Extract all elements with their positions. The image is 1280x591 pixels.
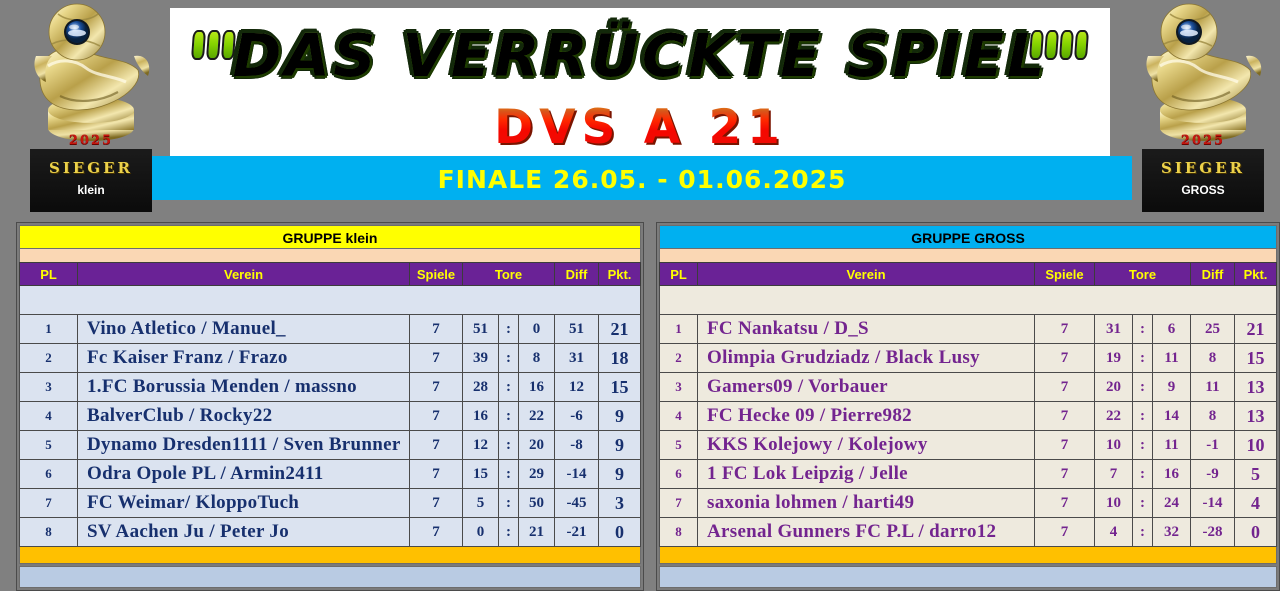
table-row[interactable]: 2 Fc Kaiser Franz / Frazo 7 39 : 8 31 18 (20, 344, 641, 373)
col-header-verein: Verein (78, 263, 410, 286)
cell-spiele: 7 (1035, 344, 1095, 373)
cell-tore-against: 9 (1153, 373, 1191, 402)
trophy-group-label-gross: GROSS (1142, 183, 1264, 197)
cell-tore-against: 32 (1153, 518, 1191, 547)
cell-tore-against: 11 (1153, 431, 1191, 460)
peach-divider (659, 249, 1277, 262)
cell-diff: -28 (1191, 518, 1235, 547)
cell-spiele: 7 (410, 373, 463, 402)
standings-table-klein: GRUPPE klein PL Verein Spiele Tore Diff … (16, 222, 644, 591)
cell-pl: 2 (20, 344, 78, 373)
cell-verein: Gamers09 / Vorbauer (698, 373, 1035, 402)
cell-tore-against: 11 (1153, 344, 1191, 373)
cell-spiele: 7 (1035, 315, 1095, 344)
cell-tore-for: 51 (463, 315, 499, 344)
cell-separator: : (1133, 373, 1153, 402)
group-title-gross: GRUPPE GROSS (659, 225, 1277, 249)
standings-table-gross: GRUPPE GROSS PL Verein Spiele Tore Diff … (656, 222, 1280, 591)
cell-spiele: 7 (410, 315, 463, 344)
cell-separator: : (499, 373, 519, 402)
cell-spiele: 7 (410, 431, 463, 460)
cell-pl: 6 (20, 460, 78, 489)
cell-pkt: 21 (599, 315, 641, 344)
cell-pkt: 0 (1235, 518, 1277, 547)
cell-separator: : (1133, 402, 1153, 431)
cell-diff: 8 (1191, 344, 1235, 373)
table-row[interactable]: 1 FC Nankatsu / D_S 7 31 : 6 25 21 (660, 315, 1277, 344)
cell-spiele: 7 (1035, 489, 1095, 518)
cell-pkt: 4 (1235, 489, 1277, 518)
footer-bar-klein (19, 566, 641, 588)
cell-verein: FC Weimar/ KloppoTuch (78, 489, 410, 518)
cell-tore-for: 39 (463, 344, 499, 373)
cell-tore-for: 5 (463, 489, 499, 518)
cell-spiele: 7 (410, 344, 463, 373)
col-header-pkt: Pkt. (1235, 263, 1277, 286)
standings-grid-gross: PL Verein Spiele Tore Diff Pkt. 1 FC Nan… (659, 262, 1277, 547)
table-row[interactable]: 2 Olimpia Grudziadz / Black Lusy 7 19 : … (660, 344, 1277, 373)
cell-pkt: 15 (1235, 344, 1277, 373)
finale-banner: FINALE 26.05. - 01.06.2025 (152, 156, 1132, 200)
title-banner: DAS VERRÜCKTE SPIEL DVS A 21 (170, 8, 1110, 158)
cell-spiele: 7 (1035, 431, 1095, 460)
trophy-base-gross: SIEGER GROSS (1142, 149, 1264, 212)
table-row[interactable]: 4 BalverClub / Rocky22 7 16 : 22 -6 9 (20, 402, 641, 431)
trophy-boot-and-ball-icon (30, 0, 152, 152)
cell-verein: KKS Kolejowy / Kolejowy (698, 431, 1035, 460)
table-row[interactable]: 3 1.FC Borussia Menden / massno 7 28 : 1… (20, 373, 641, 402)
trophy-sieger-label-klein: SIEGER (30, 159, 152, 177)
table-row[interactable]: 5 KKS Kolejowy / Kolejowy 7 10 : 11 -1 1… (660, 431, 1277, 460)
cell-separator: : (1133, 489, 1153, 518)
col-header-diff: Diff (555, 263, 599, 286)
page-subtitle: DVS A 21 (170, 104, 1110, 151)
cell-diff: 31 (555, 344, 599, 373)
cell-tore-against: 24 (1153, 489, 1191, 518)
cell-tore-against: 20 (519, 431, 555, 460)
col-header-spiele: Spiele (410, 263, 463, 286)
footer-bar-gross (659, 566, 1277, 588)
cell-verein: Odra Opole PL / Armin2411 (78, 460, 410, 489)
standings-body-klein: 1 Vino Atletico / Manuel_ 7 51 : 0 51 21… (20, 315, 641, 547)
cell-diff: 51 (555, 315, 599, 344)
cell-pl: 1 (20, 315, 78, 344)
table-row[interactable]: 8 SV Aachen Ju / Peter Jo 7 0 : 21 -21 0 (20, 518, 641, 547)
cell-separator: : (499, 518, 519, 547)
cell-pkt: 15 (599, 373, 641, 402)
cell-pl: 7 (660, 489, 698, 518)
cell-diff: 8 (1191, 402, 1235, 431)
cell-tore-for: 28 (463, 373, 499, 402)
cell-pkt: 13 (1235, 373, 1277, 402)
cell-tore-for: 0 (463, 518, 499, 547)
cell-tore-against: 16 (519, 373, 555, 402)
cell-diff: 11 (1191, 373, 1235, 402)
cell-diff: -9 (1191, 460, 1235, 489)
cell-pl: 8 (660, 518, 698, 547)
cell-pl: 4 (20, 402, 78, 431)
cell-pkt: 9 (599, 431, 641, 460)
cell-diff: -45 (555, 489, 599, 518)
table-header-row: PL Verein Spiele Tore Diff Pkt. (660, 263, 1277, 286)
cell-separator: : (1133, 518, 1153, 547)
cell-verein: FC Nankatsu / D_S (698, 315, 1035, 344)
cell-tore-against: 8 (519, 344, 555, 373)
cell-diff: 25 (1191, 315, 1235, 344)
table-row[interactable]: 3 Gamers09 / Vorbauer 7 20 : 9 11 13 (660, 373, 1277, 402)
cell-spiele: 7 (410, 518, 463, 547)
cell-spiele: 7 (410, 460, 463, 489)
cell-separator: : (499, 315, 519, 344)
cell-pl: 2 (660, 344, 698, 373)
cell-separator: : (499, 489, 519, 518)
cell-tore-for: 15 (463, 460, 499, 489)
table-row[interactable]: 4 FC Hecke 09 / Pierre982 7 22 : 14 8 13 (660, 402, 1277, 431)
table-row[interactable]: 7 saxonia lohmen / harti49 7 10 : 24 -14… (660, 489, 1277, 518)
col-header-pkt: Pkt. (599, 263, 641, 286)
cell-spiele: 7 (1035, 373, 1095, 402)
cell-tore-for: 7 (1095, 460, 1133, 489)
cell-verein: SV Aachen Ju / Peter Jo (78, 518, 410, 547)
cell-verein: 1.FC Borussia Menden / massno (78, 373, 410, 402)
cell-pl: 4 (660, 402, 698, 431)
col-header-spiele: Spiele (1035, 263, 1095, 286)
cell-separator: : (1133, 460, 1153, 489)
cell-pkt: 21 (1235, 315, 1277, 344)
cell-tore-for: 10 (1095, 431, 1133, 460)
cell-pl: 1 (660, 315, 698, 344)
col-header-pl: PL (660, 263, 698, 286)
cell-pl: 5 (20, 431, 78, 460)
trophy-year-klein: 2025 (30, 133, 152, 148)
cell-diff: -14 (1191, 489, 1235, 518)
cell-tore-for: 12 (463, 431, 499, 460)
trophy-group-label-klein: klein (30, 183, 152, 197)
cell-verein: BalverClub / Rocky22 (78, 402, 410, 431)
cell-spiele: 7 (1035, 460, 1095, 489)
group-title-klein: GRUPPE klein (19, 225, 641, 249)
green-divider-row (660, 286, 1277, 315)
cell-pl: 8 (20, 518, 78, 547)
cell-diff: -1 (1191, 431, 1235, 460)
cell-diff: 12 (555, 373, 599, 402)
cell-tore-against: 16 (1153, 460, 1191, 489)
cell-tore-against: 21 (519, 518, 555, 547)
cell-tore-against: 50 (519, 489, 555, 518)
cell-separator: : (499, 344, 519, 373)
cell-tore-against: 29 (519, 460, 555, 489)
cell-tore-for: 31 (1095, 315, 1133, 344)
amber-divider-gross (659, 547, 1277, 564)
cell-spiele: 7 (1035, 402, 1095, 431)
header-area: DAS VERRÜCKTE SPIEL DVS A 21 FINALE 26.0… (0, 0, 1280, 212)
cell-separator: : (1133, 431, 1153, 460)
finale-date-text: FINALE 26.05. - 01.06.2025 (152, 165, 1132, 194)
cell-pkt: 10 (1235, 431, 1277, 460)
cell-verein: Olimpia Grudziadz / Black Lusy (698, 344, 1035, 373)
table-row[interactable]: 5 Dynamo Dresden1111 / Sven Brunner 7 12… (20, 431, 641, 460)
peach-divider (19, 249, 641, 262)
cell-tore-against: 0 (519, 315, 555, 344)
page-title: DAS VERRÜCKTE SPIEL (170, 26, 1110, 85)
cell-diff: -8 (555, 431, 599, 460)
cell-spiele: 7 (1035, 518, 1095, 547)
cell-tore-for: 22 (1095, 402, 1133, 431)
cell-pkt: 9 (599, 460, 641, 489)
cell-pkt: 5 (1235, 460, 1277, 489)
cell-separator: : (499, 402, 519, 431)
col-header-pl: PL (20, 263, 78, 286)
cell-verein: Vino Atletico / Manuel_ (78, 315, 410, 344)
table-row[interactable]: 7 FC Weimar/ KloppoTuch 7 5 : 50 -45 3 (20, 489, 641, 518)
green-divider-row (20, 286, 641, 315)
trophy-klein: 2025 SIEGER klein (30, 0, 152, 212)
trophy-sieger-label-gross: SIEGER (1142, 159, 1264, 177)
cell-verein: saxonia lohmen / harti49 (698, 489, 1035, 518)
cell-pkt: 3 (599, 489, 641, 518)
cell-pkt: 0 (599, 518, 641, 547)
col-header-verein: Verein (698, 263, 1035, 286)
standings-body-gross: 1 FC Nankatsu / D_S 7 31 : 6 25 21 2 Oli… (660, 315, 1277, 547)
cell-separator: : (499, 460, 519, 489)
col-header-tore: Tore (1095, 263, 1191, 286)
cell-separator: : (1133, 315, 1153, 344)
cell-pkt: 9 (599, 402, 641, 431)
table-row[interactable]: 6 1 FC Lok Leipzig / Jelle 7 7 : 16 -9 5 (660, 460, 1277, 489)
trophy-year-gross: 2025 (1142, 133, 1264, 148)
cell-diff: -6 (555, 402, 599, 431)
cell-pl: 6 (660, 460, 698, 489)
trophy-base-klein: SIEGER klein (30, 149, 152, 212)
cell-tore-against: 22 (519, 402, 555, 431)
cell-tore-for: 16 (463, 402, 499, 431)
cell-spiele: 7 (410, 489, 463, 518)
table-row[interactable]: 8 Arsenal Gunners FC P.L / darro12 7 4 :… (660, 518, 1277, 547)
standings-grid-klein: PL Verein Spiele Tore Diff Pkt. 1 Vino A… (19, 262, 641, 547)
cell-pl: 3 (20, 373, 78, 402)
table-header-row: PL Verein Spiele Tore Diff Pkt. (20, 263, 641, 286)
col-header-diff: Diff (1191, 263, 1235, 286)
cell-separator: : (1133, 344, 1153, 373)
cell-verein: FC Hecke 09 / Pierre982 (698, 402, 1035, 431)
col-header-tore: Tore (463, 263, 555, 286)
cell-verein: Dynamo Dresden1111 / Sven Brunner (78, 431, 410, 460)
amber-divider-klein (19, 547, 641, 564)
cell-pl: 7 (20, 489, 78, 518)
table-row[interactable]: 6 Odra Opole PL / Armin2411 7 15 : 29 -1… (20, 460, 641, 489)
trophy-boot-and-ball-icon (1142, 0, 1264, 152)
cell-separator: : (499, 431, 519, 460)
cell-tore-for: 10 (1095, 489, 1133, 518)
table-row[interactable]: 1 Vino Atletico / Manuel_ 7 51 : 0 51 21 (20, 315, 641, 344)
cell-tore-for: 20 (1095, 373, 1133, 402)
cell-verein: 1 FC Lok Leipzig / Jelle (698, 460, 1035, 489)
cell-diff: -14 (555, 460, 599, 489)
cell-diff: -21 (555, 518, 599, 547)
cell-spiele: 7 (410, 402, 463, 431)
cell-pkt: 13 (1235, 402, 1277, 431)
cell-tore-against: 14 (1153, 402, 1191, 431)
cell-tore-for: 4 (1095, 518, 1133, 547)
cell-pl: 3 (660, 373, 698, 402)
cell-verein: Arsenal Gunners FC P.L / darro12 (698, 518, 1035, 547)
cell-tore-against: 6 (1153, 315, 1191, 344)
cell-pl: 5 (660, 431, 698, 460)
cell-verein: Fc Kaiser Franz / Frazo (78, 344, 410, 373)
cell-tore-for: 19 (1095, 344, 1133, 373)
cell-pkt: 18 (599, 344, 641, 373)
trophy-gross: 2025 SIEGER GROSS (1142, 0, 1264, 212)
